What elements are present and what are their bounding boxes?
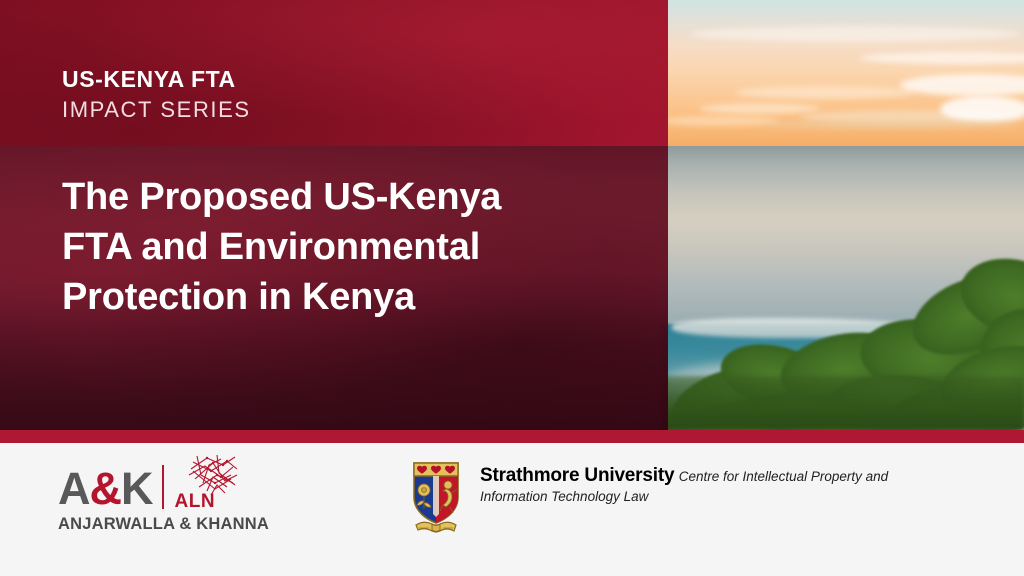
accent-divider-bar bbox=[0, 430, 1024, 443]
ak-logo-row: A & K bbox=[58, 461, 288, 511]
strathmore-university-name: Strathmore University bbox=[480, 465, 674, 486]
ak-letter-a: A bbox=[58, 466, 90, 511]
footer-logo-bar: A & K bbox=[0, 443, 1024, 576]
title-line-1: The Proposed US-Kenya bbox=[62, 172, 582, 222]
cloud-streak bbox=[690, 26, 1020, 42]
cloud-streak bbox=[860, 52, 1024, 64]
title-line-2: FTA and Environmental bbox=[62, 222, 582, 272]
strathmore-tagline-line-1: Centre for Intellectual Property and bbox=[679, 469, 888, 484]
palm-foliage bbox=[660, 250, 1024, 430]
page-title: The Proposed US-Kenya FTA and Environmen… bbox=[62, 172, 582, 322]
series-eyebrow-subtitle: IMPACT SERIES bbox=[62, 99, 251, 121]
strathmore-text-block: Strathmore University Centre for Intelle… bbox=[480, 457, 888, 506]
cloud-streak bbox=[940, 96, 1024, 122]
series-eyebrow: US-KENYA FTA bbox=[62, 68, 236, 91]
anjarwalla-khanna-logo: A & K bbox=[58, 461, 288, 534]
aln-label: ALN bbox=[175, 492, 216, 511]
cloud-streak bbox=[900, 74, 1024, 96]
strathmore-crest-icon bbox=[408, 457, 464, 537]
presentation-slide: US-KENYA FTA IMPACT SERIES The Proposed … bbox=[0, 0, 1024, 576]
aln-mark-block: ALN bbox=[173, 461, 243, 511]
cloud-streak bbox=[700, 103, 820, 114]
cloud-streak bbox=[760, 120, 1020, 129]
cloud-streak bbox=[735, 86, 915, 99]
ak-vertical-divider bbox=[162, 465, 164, 509]
strathmore-tagline-line-2: Information Technology Law bbox=[480, 489, 648, 504]
ak-letter-k: K bbox=[121, 466, 153, 511]
ak-ampersand: & bbox=[90, 466, 122, 511]
strathmore-university-logo: Strathmore University Centre for Intelle… bbox=[408, 457, 888, 537]
ak-firm-name: ANJARWALLA & KHANNA bbox=[58, 515, 288, 534]
title-line-3: Protection in Kenya bbox=[62, 272, 582, 322]
palm-canopy-base bbox=[660, 376, 1024, 430]
